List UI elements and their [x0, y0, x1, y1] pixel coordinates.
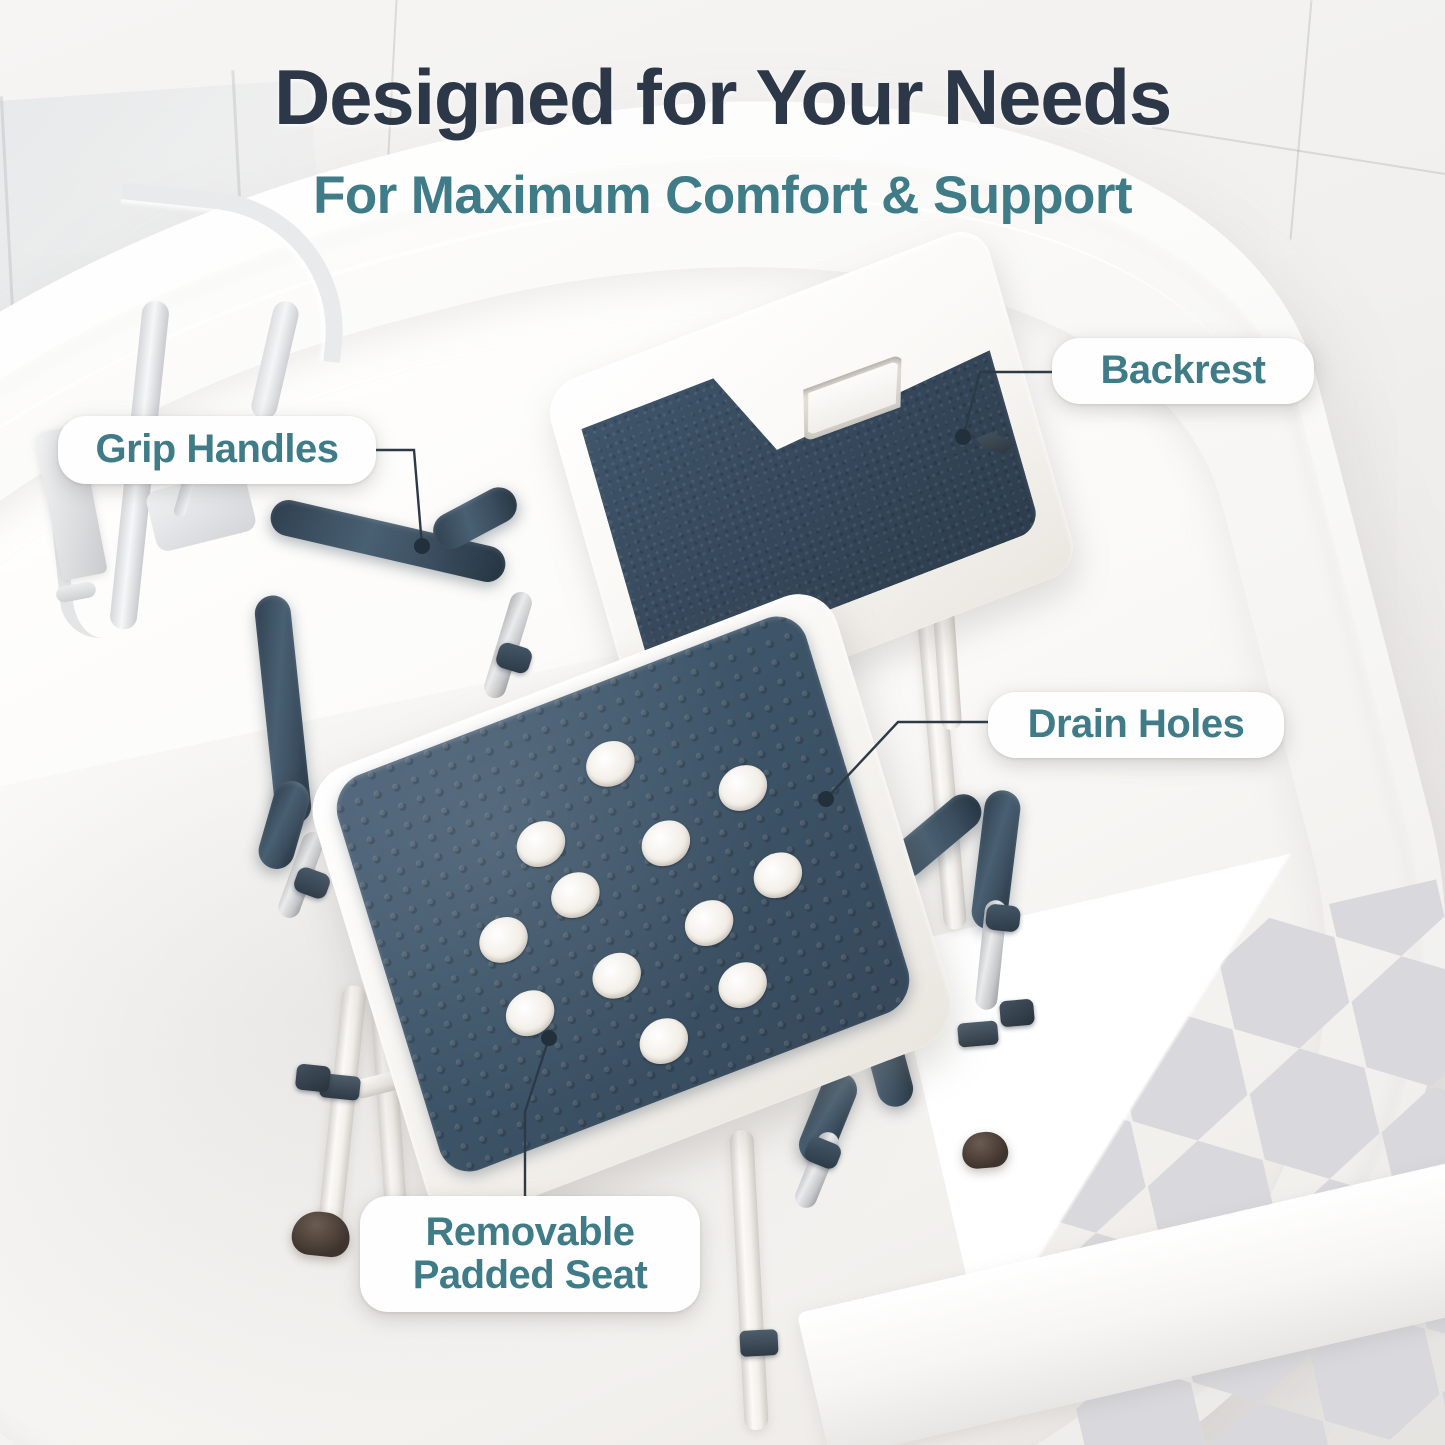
callout-backrest-text: Backrest — [1100, 349, 1265, 392]
page-title: Designed for Your Needs — [0, 52, 1445, 143]
callout-label-backrest[interactable]: Backrest — [1052, 338, 1314, 404]
product-infographic: Designed for Your Needs For Maximum Comf… — [0, 0, 1445, 1445]
callout-grip-handles-text: Grip Handles — [96, 428, 339, 471]
chair-leg-front-left — [317, 984, 367, 1235]
page-subtitle: For Maximum Comfort & Support — [0, 165, 1445, 226]
callout-label-grip-handles[interactable]: Grip Handles — [58, 416, 376, 484]
leg-adjust-knob-rear-right — [999, 999, 1035, 1028]
leg-height-clamp-front-right — [739, 1329, 778, 1357]
callout-label-drain-holes[interactable]: Drain Holes — [988, 692, 1284, 758]
chair-leg-front-right — [729, 1130, 769, 1431]
leg-adjust-knob-front-left — [295, 1063, 332, 1092]
chair-foot-rear-right — [961, 1130, 1010, 1170]
grip-handle-left-leader-point — [416, 540, 429, 553]
callout-drain-holes-text: Drain Holes — [1028, 703, 1245, 746]
callout-padded-seat-line2: Padded Seat — [413, 1254, 648, 1297]
callout-label-removable-padded-seat[interactable]: Removable Padded Seat — [360, 1196, 700, 1312]
grip-handle-right-rear-collar — [985, 903, 1022, 932]
callout-padded-seat-line1: Removable — [413, 1211, 648, 1254]
leg-height-clamp-rear-right — [957, 1020, 999, 1047]
